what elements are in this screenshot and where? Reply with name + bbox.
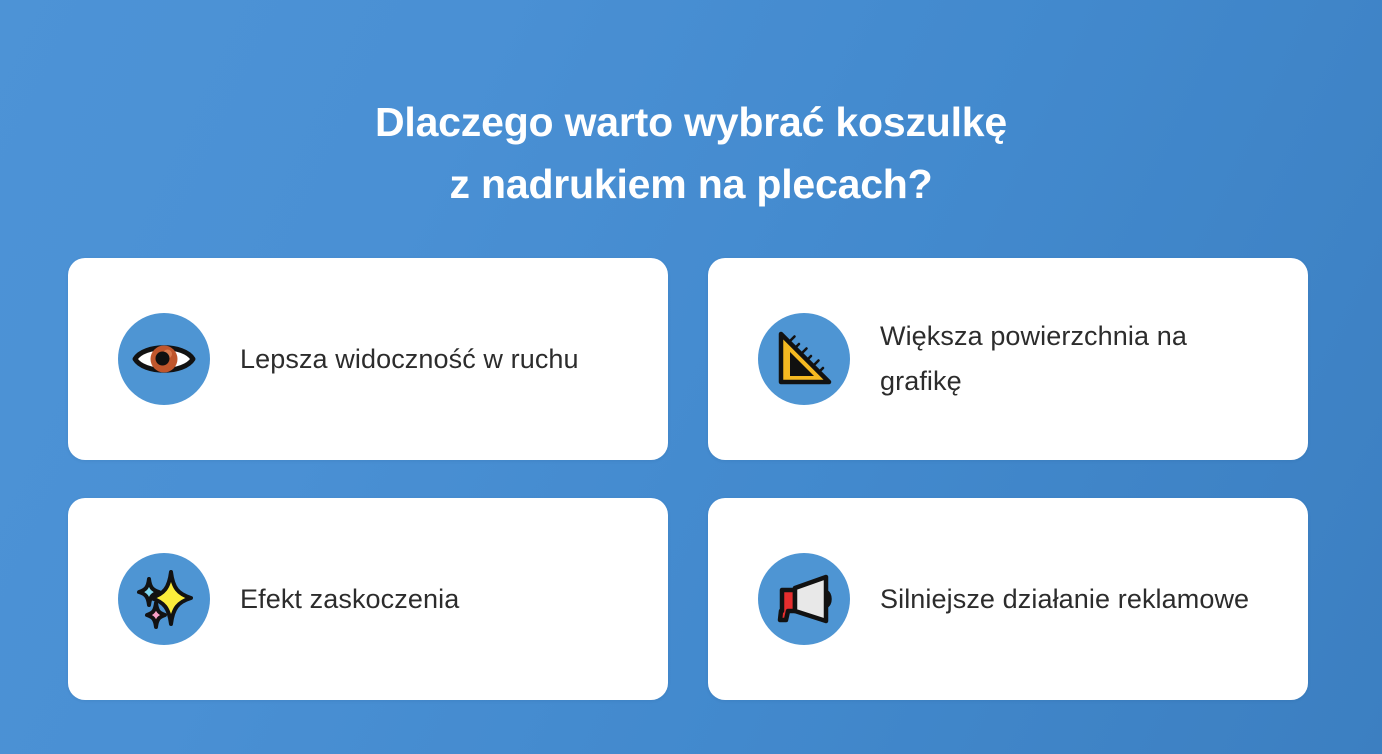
benefit-card-visibility[interactable]: Lepsza widoczność w ruchu [68, 258, 668, 460]
benefit-card-surface[interactable]: Większa powierzchnia na grafikę [708, 258, 1308, 460]
megaphone-icon [758, 553, 850, 645]
page-title: Dlaczego warto wybrać koszulkę z nadruki… [0, 91, 1382, 215]
benefit-card-surprise[interactable]: Efekt zaskoczenia [68, 498, 668, 700]
page-title-line-2: z nadrukiem na plecach? [0, 153, 1382, 215]
benefit-card-label: Większa powierzchnia na grafikę [880, 314, 1270, 404]
benefit-card-advertising[interactable]: Silniejsze działanie reklamowe [708, 498, 1308, 700]
benefit-card-grid: Lepsza widoczność w ruchu [68, 258, 1308, 700]
benefit-card-label: Lepsza widoczność w ruchu [240, 337, 579, 382]
infographic-canvas: Dlaczego warto wybrać koszulkę z nadruki… [0, 0, 1382, 754]
page-title-line-1: Dlaczego warto wybrać koszulkę [0, 91, 1382, 153]
eye-icon [118, 313, 210, 405]
benefit-card-label: Efekt zaskoczenia [240, 577, 459, 622]
sparkles-icon [118, 553, 210, 645]
triangular-ruler-icon [758, 313, 850, 405]
benefit-card-label: Silniejsze działanie reklamowe [880, 577, 1249, 622]
